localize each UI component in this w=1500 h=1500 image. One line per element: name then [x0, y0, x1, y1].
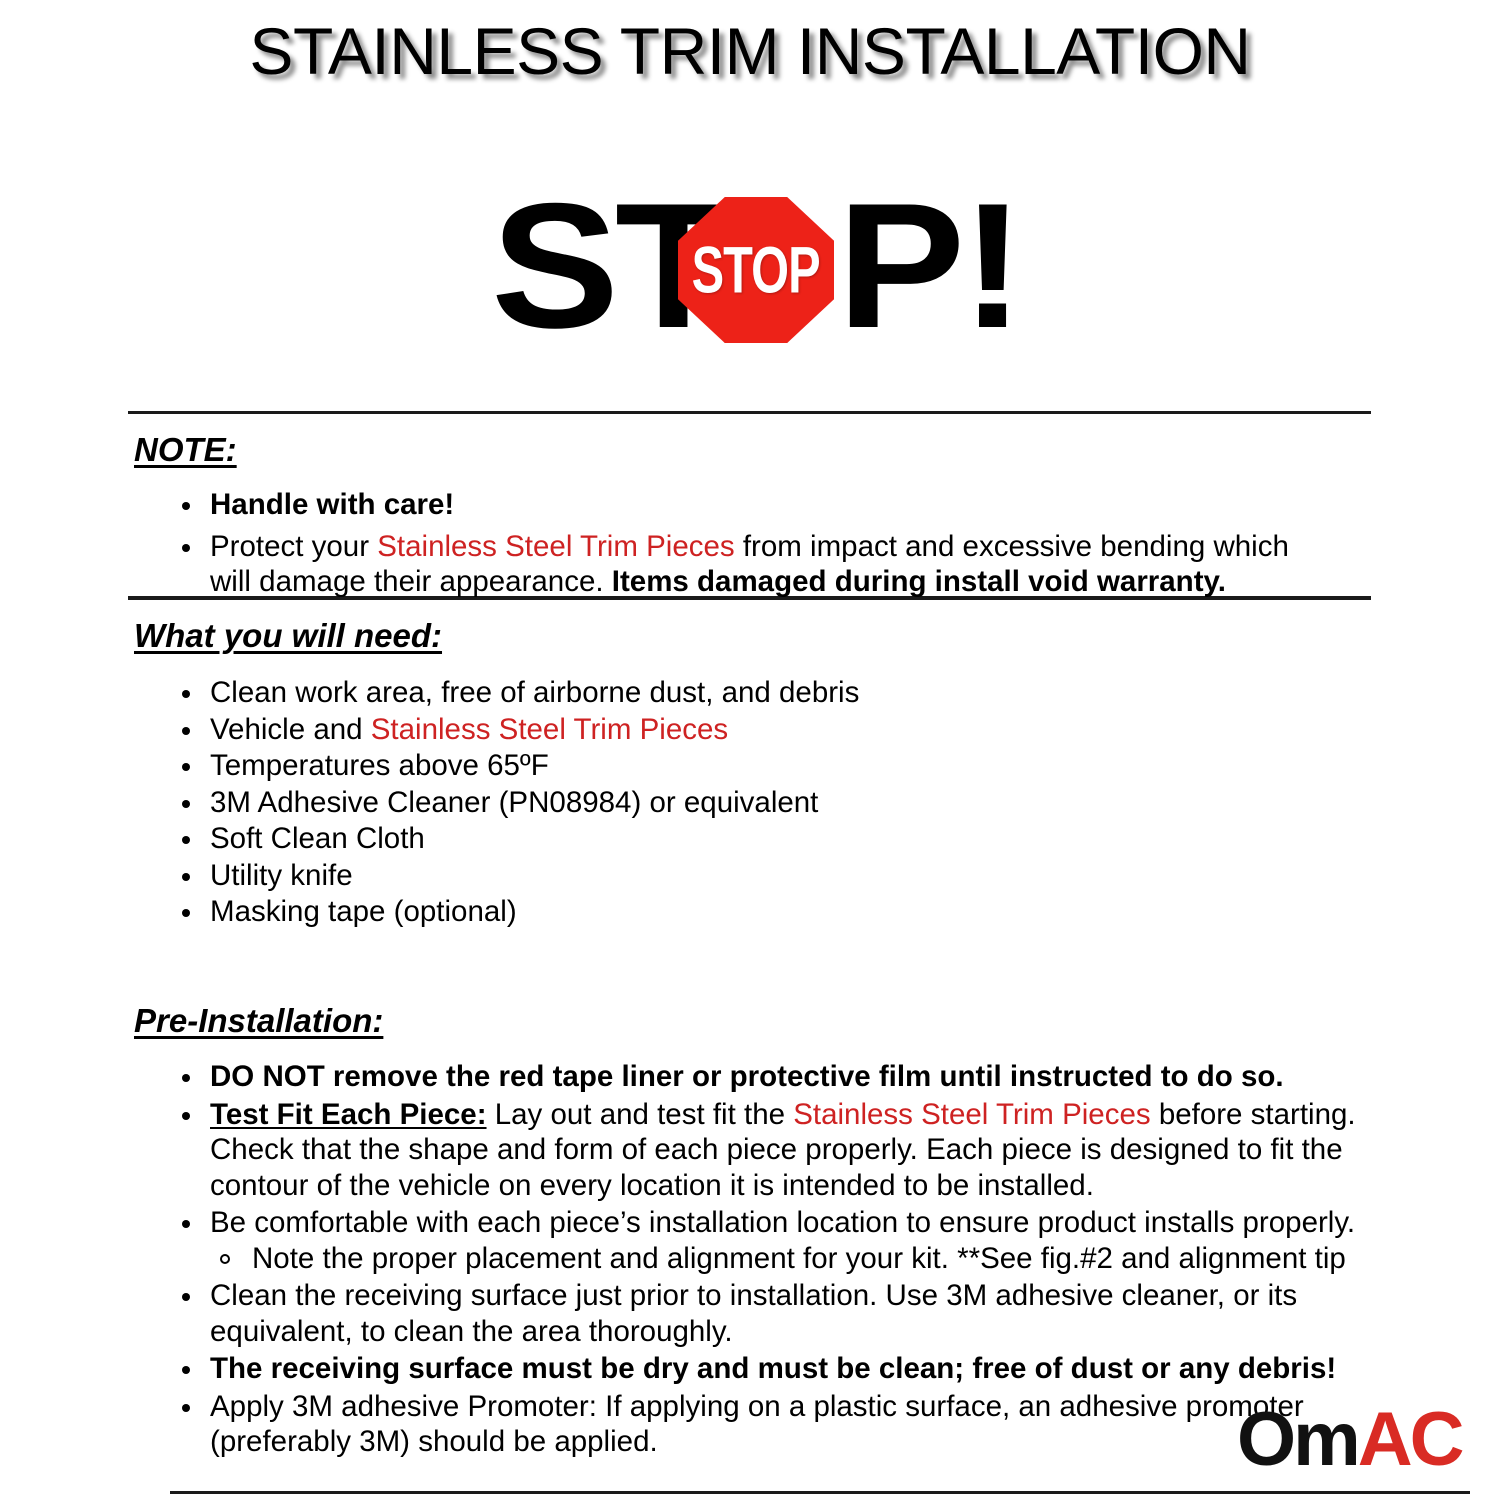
- list-item: Apply 3M adhesive Promoter: If applying …: [180, 1389, 1360, 1460]
- pre-item-5-text: Apply 3M adhesive Promoter: If applying …: [210, 1390, 1304, 1459]
- stop-sign-label: STOP: [692, 237, 820, 303]
- need-item-1-part-1: Stainless Steel Trim Pieces: [371, 713, 728, 746]
- need-item-4-text: Soft Clean Cloth: [210, 822, 425, 855]
- need-item-0-text: Clean work area, free of airborne dust, …: [210, 676, 859, 709]
- list-item: Temperatures above 65ºF: [180, 748, 1310, 784]
- need-item-1-part-0: Vehicle and: [210, 713, 371, 746]
- note-list: Handle with care! Protect your Stainless…: [180, 487, 1310, 600]
- list-item: Protect your Stainless Steel Trim Pieces…: [180, 529, 1310, 600]
- pre-item-1-part-1: Lay out and test fit the: [487, 1098, 794, 1131]
- need-item-5-text: Utility knife: [210, 859, 353, 892]
- list-item: Soft Clean Cloth: [180, 821, 1310, 857]
- need-item-3-text: 3M Adhesive Cleaner (PN08984) or equival…: [210, 786, 818, 819]
- heading-pre-installation: Pre-Installation:: [134, 1002, 383, 1040]
- pre-item-4-text: The receiving surface must be dry and mu…: [210, 1352, 1336, 1385]
- need-item-6-text: Masking tape (optional): [210, 895, 517, 928]
- list-item: Vehicle and Stainless Steel Trim Pieces: [180, 712, 1310, 748]
- note-item-1-part-0: Protect your: [210, 530, 377, 563]
- omac-logo: OmAC: [1237, 1404, 1499, 1476]
- divider-top: [128, 411, 1371, 414]
- list-item: Utility knife: [180, 858, 1310, 894]
- heading-what-you-will-need: What you will need:: [134, 617, 442, 655]
- stop-sign-icon: STOP: [678, 197, 834, 343]
- pre-item-2-sublist: Note the proper placement and alignment …: [210, 1241, 1360, 1277]
- list-item: Clean the receiving surface just prior t…: [180, 1278, 1360, 1349]
- pre-item-0-text: DO NOT remove the red tape liner or prot…: [210, 1060, 1284, 1093]
- pre-item-1-part-0: Test Fit Each Piece:: [210, 1098, 487, 1131]
- pre-item-2-text: Be comfortable with each piece’s install…: [210, 1206, 1355, 1239]
- sub-list-item: Note the proper placement and alignment …: [210, 1241, 1360, 1277]
- need-item-2-text: Temperatures above 65ºF: [210, 749, 549, 782]
- stop-word-right: P!: [837, 178, 1021, 353]
- heading-note: NOTE:: [134, 431, 237, 469]
- note-item-1-part-3: Items damaged during install void warran…: [612, 565, 1226, 598]
- omac-logo-red-part: AC: [1358, 1397, 1462, 1482]
- stop-hero-graphic: ST STOP P!: [485, 178, 1005, 353]
- list-item: Test Fit Each Piece: Lay out and test fi…: [180, 1097, 1360, 1204]
- list-item: The receiving surface must be dry and mu…: [180, 1351, 1360, 1387]
- list-item: 3M Adhesive Cleaner (PN08984) or equival…: [180, 785, 1310, 821]
- list-item: Masking tape (optional): [180, 894, 1310, 930]
- list-item: Clean work area, free of airborne dust, …: [180, 675, 1310, 711]
- pre-installation-list: DO NOT remove the red tape liner or prot…: [180, 1059, 1360, 1460]
- note-item-0-text: Handle with care!: [210, 488, 454, 521]
- page-title: STAINLESS TRIM INSTALLATION: [0, 8, 1500, 94]
- pre-item-2-sub-0-text: Note the proper placement and alignment …: [252, 1242, 1346, 1275]
- need-list: Clean work area, free of airborne dust, …: [180, 675, 1310, 930]
- list-item: Handle with care!: [180, 487, 1310, 523]
- pre-item-3-text: Clean the receiving surface just prior t…: [210, 1279, 1297, 1348]
- omac-logo-dark-part: Om: [1237, 1397, 1358, 1482]
- list-item: DO NOT remove the red tape liner or prot…: [180, 1059, 1360, 1095]
- list-item: Be comfortable with each piece’s install…: [180, 1205, 1360, 1276]
- note-item-1-part-1: Stainless Steel Trim Pieces: [377, 530, 734, 563]
- pre-item-1-part-2: Stainless Steel Trim Pieces: [793, 1098, 1150, 1131]
- divider-bottom: [170, 1491, 1470, 1494]
